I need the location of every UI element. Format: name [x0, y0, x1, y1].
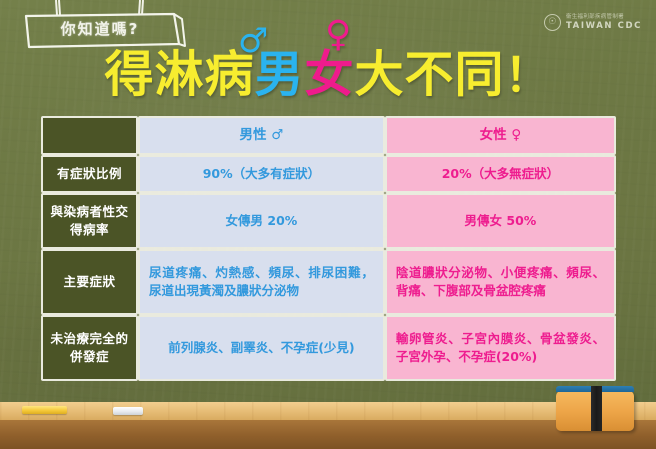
cell-male-main-symptoms-text: 尿道疼痛、灼熱感、頻尿、排尿困難，尿道出現黃濁及膿狀分泌物: [149, 264, 374, 300]
sign-label: 你知道嗎?: [22, 18, 178, 39]
table-row: 主要症狀 尿道疼痛、灼熱感、頻尿、排尿困難，尿道出現黃濁及膿狀分泌物 陰道膿狀分…: [43, 251, 614, 313]
cell-female-complications-text: 輸卵管炎、子宮內膜炎、骨盆發炎、子宮外孕、不孕症(20%): [396, 330, 605, 366]
comparison-table: 男性 ♂ 女性 ♀ 有症狀比例 90%（大多有症狀） 20%（大多無症狀） 與染…: [43, 118, 614, 379]
cell-male-main-symptoms: 尿道疼痛、灼熱感、頻尿、排尿困難，尿道出現黃濁及膿狀分泌物: [140, 251, 383, 313]
column-header-male: 男性 ♂: [140, 118, 383, 153]
table-corner-cell: [43, 118, 136, 153]
cell-female-main-symptoms-text: 陰道膿狀分泌物、小便疼痛、頻尿、背痛、下腹部及骨盆腔疼痛: [396, 264, 605, 300]
cell-male-symptom-rate: 90%（大多有症狀）: [140, 157, 383, 191]
cell-male-complications: 前列腺炎、副睪炎、不孕症(少見): [140, 317, 383, 379]
cell-female-complications: 輸卵管炎、子宮內膜炎、骨盆發炎、子宮外孕、不孕症(20%): [387, 317, 614, 379]
agency-name-en: TAIWAN CDC: [566, 22, 642, 31]
row-label-complications: 未治療完全的併發症: [43, 317, 136, 379]
table-row: 與染病者性交得病率 女傳男 20% 男傳女 50%: [43, 195, 614, 247]
white-chalk-icon: [113, 407, 143, 415]
column-header-female: 女性 ♀: [387, 118, 614, 153]
table-row: 未治療完全的併發症 前列腺炎、副睪炎、不孕症(少見) 輸卵管炎、子宮內膜炎、骨盆…: [43, 317, 614, 379]
taiwan-cdc-logo: ☉ 衛生福利部疾病管制署 TAIWAN CDC: [544, 14, 642, 31]
cell-female-transmission-rate: 男傳女 50%: [387, 195, 614, 247]
cdc-seal-icon: ☉: [544, 14, 561, 31]
cell-female-main-symptoms: 陰道膿狀分泌物、小便疼痛、頻尿、背痛、下腹部及骨盆腔疼痛: [387, 251, 614, 313]
female-symbol-icon: ♀: [325, 17, 351, 53]
blackboard-background: 你知道嗎? ☉ 衛生福利部疾病管制署 TAIWAN CDC 得淋病男女大不同！ …: [0, 0, 656, 449]
yellow-chalk-icon: [22, 406, 67, 414]
table-header-row: 男性 ♂ 女性 ♀: [43, 118, 614, 153]
male-symbol-icon: ♂: [238, 24, 268, 58]
row-label-symptom-rate: 有症狀比例: [43, 157, 136, 191]
cell-male-transmission-rate: 女傳男 20%: [140, 195, 383, 247]
agency-name-cn: 衛生福利部疾病管制署: [566, 15, 642, 21]
title-exclamation: ！: [505, 46, 552, 104]
cell-female-symptom-rate: 20%（大多無症狀）: [387, 157, 614, 191]
did-you-know-sign: 你知道嗎?: [22, 0, 197, 56]
row-label-main-symptoms: 主要症狀: [43, 251, 136, 313]
eraser-band: [591, 386, 602, 431]
table-row: 有症狀比例 90%（大多有症狀） 20%（大多無症狀）: [43, 157, 614, 191]
chalk-ledge: [0, 402, 656, 449]
row-label-transmission-rate: 與染病者性交得病率: [43, 195, 136, 247]
blackboard-eraser-icon: [556, 391, 634, 431]
title-part-da-bu-tong: 大不同: [355, 46, 505, 104]
